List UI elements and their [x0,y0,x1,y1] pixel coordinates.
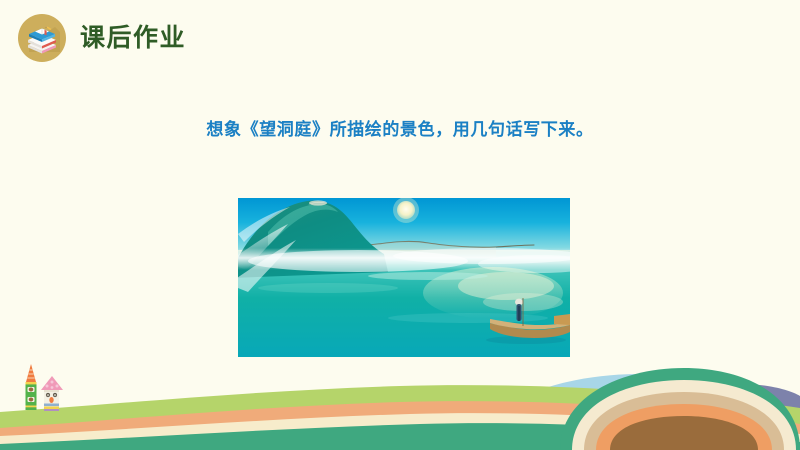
prompt-line: 想象《望洞庭》所描绘的景色，用几句话写下来。 [0,115,800,140]
green-ring [560,368,800,450]
slide-header: 课后作业 [18,14,186,62]
orange-tower-house [26,364,37,410]
pink-roof-house [41,376,63,411]
slate-purple-arc [600,384,800,450]
stacked-books-icon [18,14,66,62]
sky-blue-arc [470,374,800,450]
peach-band [0,401,800,450]
teal-band [0,423,800,450]
brown-core [610,416,758,450]
concentric-arc-rings [560,368,800,450]
cream-band [0,413,800,450]
light-green-band [0,385,800,450]
decorative-houses [20,360,90,422]
dongting-lake-illustration [238,198,570,357]
cream-ring [572,380,796,450]
orange-ring [596,404,772,450]
stacked-books-glyph [18,14,66,62]
slide-canvas: 课后作业 想象《望洞庭》所描绘的景色，用几句话写下来。 [0,0,800,450]
assignment-prompt-text: 想象《望洞庭》所描绘的景色，用几句话写下来。 [206,120,593,139]
tan-ring [584,392,784,450]
page-title: 课后作业 [80,26,186,51]
